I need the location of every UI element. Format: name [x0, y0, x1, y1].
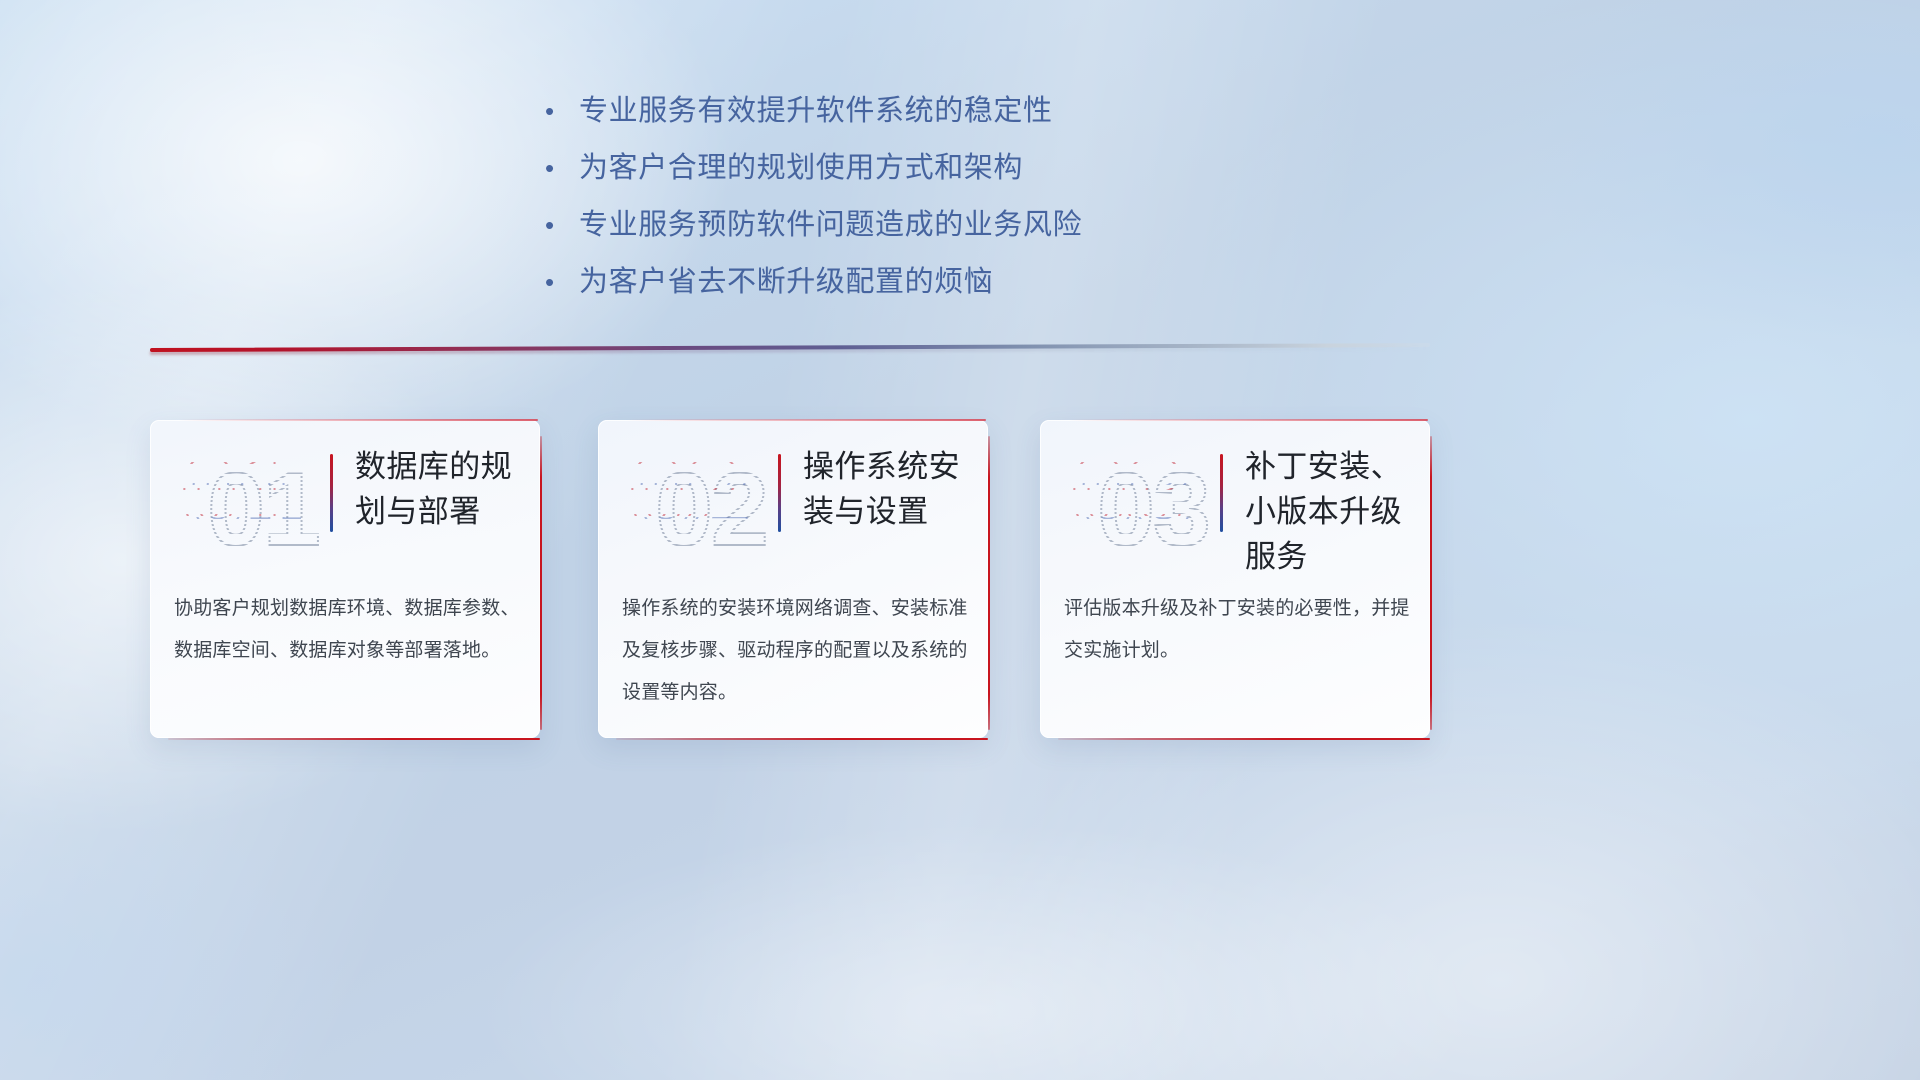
card-number-decoration: 03 03 03 [1062, 436, 1200, 552]
card-bottom-accent [616, 738, 988, 740]
card-title: 数据库的规划与部署 [355, 444, 526, 534]
bullet-text: 为客户省去不断升级配置的烦恼 [579, 263, 1445, 301]
card-number-glitch-blue: 02 [624, 436, 762, 552]
feature-card[interactable]: 02 02 02 操作系统安装与设置 操作系统的安装环境网络调查、安装标准及复核… [598, 420, 988, 738]
bullet-marker-icon: • [545, 149, 579, 187]
bullet-marker-icon: • [545, 206, 579, 244]
list-item: • 专业服务有效提升软件系统的稳定性 [545, 92, 1445, 130]
list-item: • 专业服务预防软件问题造成的业务风险 [545, 206, 1445, 244]
card-number-decoration: 01 01 01 [172, 436, 310, 552]
section-divider [150, 348, 1430, 355]
card-body-text: 评估版本升级及补丁安装的必要性，并提交实施计划。 [1064, 588, 1410, 672]
card-right-accent [540, 436, 542, 730]
card-header: 01 01 01 数据库的规划与部署 [150, 420, 540, 570]
card-separator-bar [330, 454, 333, 532]
card-number-glitch-blue: 01 [176, 436, 314, 552]
list-item: • 为客户省去不断升级配置的烦恼 [545, 263, 1445, 301]
card-bottom-accent [168, 738, 540, 740]
card-separator-bar [778, 454, 781, 532]
card-separator-bar [1220, 454, 1223, 532]
bullet-text: 专业服务预防软件问题造成的业务风险 [579, 206, 1445, 244]
bullet-marker-icon: • [545, 92, 579, 130]
feature-card-group: 01 01 01 数据库的规划与部署 协助客户规划数据库环境、数据库参数、数据库… [150, 420, 1440, 740]
bullet-text: 为客户合理的规划使用方式和架构 [579, 149, 1445, 187]
feature-card[interactable]: 01 01 01 数据库的规划与部署 协助客户规划数据库环境、数据库参数、数据库… [150, 420, 540, 738]
card-bottom-accent [1058, 738, 1430, 740]
slide-canvas: • 专业服务有效提升软件系统的稳定性 • 为客户合理的规划使用方式和架构 • 专… [0, 0, 1920, 1080]
card-header: 02 02 02 操作系统安装与设置 [598, 420, 988, 570]
card-body-text: 操作系统的安装环境网络调查、安装标准及复核步骤、驱动程序的配置以及系统的设置等内… [622, 588, 968, 714]
card-title: 补丁安装、小版本升级服务 [1245, 444, 1416, 579]
card-right-accent [988, 436, 990, 730]
bullet-text: 专业服务有效提升软件系统的稳定性 [579, 92, 1445, 130]
card-number-glitch-blue: 03 [1066, 436, 1204, 552]
card-number-decoration: 02 02 02 [620, 436, 758, 552]
card-right-accent [1430, 436, 1432, 730]
bullet-list: • 专业服务有效提升软件系统的稳定性 • 为客户合理的规划使用方式和架构 • 专… [545, 92, 1445, 320]
bullet-marker-icon: • [545, 263, 579, 301]
feature-card[interactable]: 03 03 03 补丁安装、小版本升级服务 评估版本升级及补丁安装的必要性，并提… [1040, 420, 1430, 738]
card-body-text: 协助客户规划数据库环境、数据库参数、数据库空间、数据库对象等部署落地。 [174, 588, 520, 672]
card-header: 03 03 03 补丁安装、小版本升级服务 [1040, 420, 1430, 570]
card-title: 操作系统安装与设置 [803, 444, 974, 534]
list-item: • 为客户合理的规划使用方式和架构 [545, 149, 1445, 187]
